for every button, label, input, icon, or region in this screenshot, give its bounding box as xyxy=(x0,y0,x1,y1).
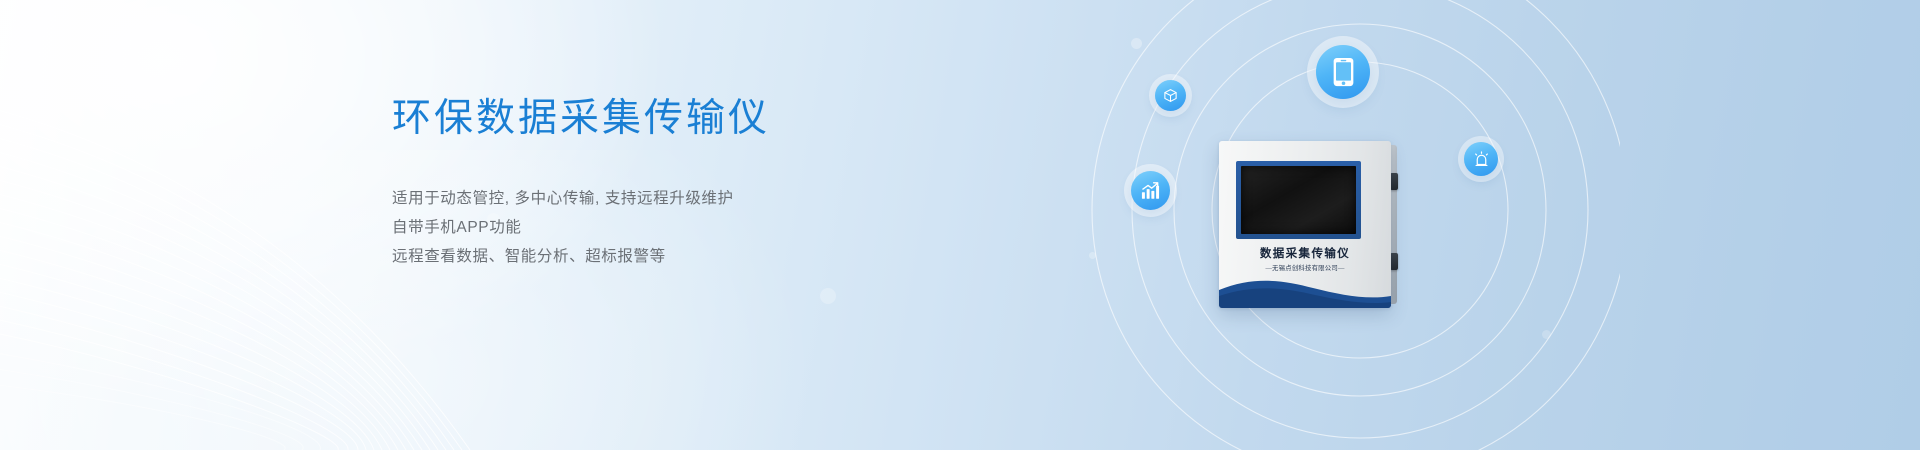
bokeh-dot xyxy=(820,288,836,304)
subtitle-line-2: 自带手机APP功能 xyxy=(392,213,912,242)
banner-copy: 环保数据采集传输仪 适用于动态管控, 多中心传输, 支持远程升级维护 自带手机A… xyxy=(392,96,912,271)
cube-icon[interactable] xyxy=(1155,80,1186,111)
phone-icon-glyph xyxy=(1332,57,1355,87)
device-screen-bezel xyxy=(1236,161,1361,239)
device-base-wave xyxy=(1219,274,1391,308)
device-body: 数据采集传输仪 —无锡点创科技有限公司— xyxy=(1219,141,1391,308)
chart-icon-glyph xyxy=(1140,180,1161,201)
product-banner: 环保数据采集传输仪 适用于动态管控, 多中心传输, 支持远程升级维护 自带手机A… xyxy=(0,0,1920,450)
chart-icon[interactable] xyxy=(1131,171,1170,210)
device-connector-bottom xyxy=(1390,253,1398,270)
phone-icon[interactable] xyxy=(1316,45,1370,99)
subtitle-line-3: 远程查看数据、智能分析、超标报警等 xyxy=(392,242,912,271)
device-connector-top xyxy=(1390,173,1398,190)
device-panel-label: 数据采集传输仪 xyxy=(1219,245,1391,261)
page-title: 环保数据采集传输仪 xyxy=(392,96,912,142)
bokeh-dot xyxy=(1542,330,1551,339)
device-company-line: —无锡点创科技有限公司— xyxy=(1219,263,1391,272)
subtitle-line-1: 适用于动态管控, 多中心传输, 支持远程升级维护 xyxy=(392,184,912,213)
device-screen xyxy=(1241,166,1356,234)
alarm-icon-glyph xyxy=(1473,151,1490,168)
bokeh-dot xyxy=(1131,38,1142,49)
bokeh-dot xyxy=(1089,252,1096,259)
product-device-image: 数据采集传输仪 —无锡点创科技有限公司— xyxy=(1219,141,1391,308)
cube-icon-glyph xyxy=(1163,88,1178,103)
alarm-icon[interactable] xyxy=(1464,142,1498,176)
